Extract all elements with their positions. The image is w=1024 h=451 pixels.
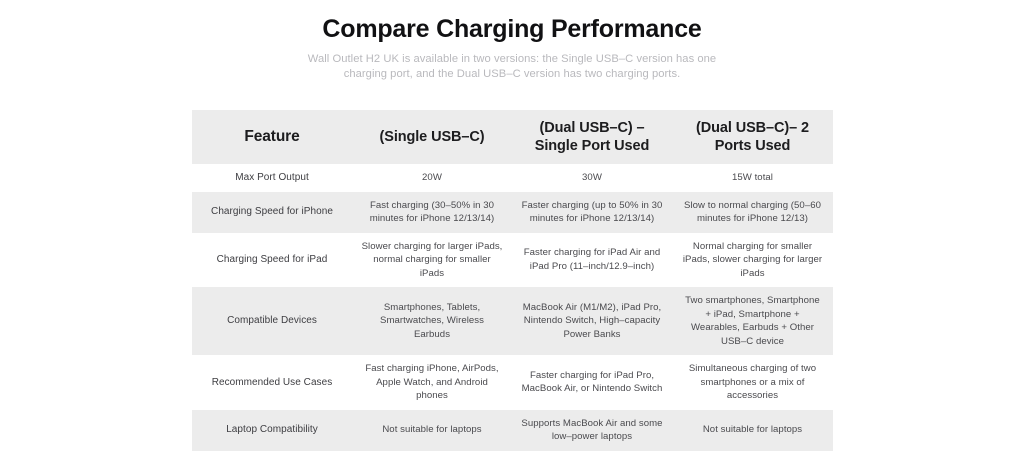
cell-single-usbc: Smartphones, Tablets, Smartwatches, Wire… bbox=[352, 287, 512, 355]
table-header: Feature (Single USB–C) (Dual USB–C) – Si… bbox=[192, 110, 833, 164]
cell-dual-two-ports: Not suitable for laptops bbox=[672, 410, 833, 451]
cell-dual-single-port: MacBook Air (M1/M2), iPad Pro, Nintendo … bbox=[512, 287, 672, 355]
page-subtitle: Wall Outlet H2 UK is available in two ve… bbox=[286, 52, 738, 82]
column-header-feature: Feature bbox=[192, 110, 352, 164]
cell-dual-single-port: 30W bbox=[512, 164, 672, 192]
table-row: Max Port Output 20W 30W 15W total bbox=[192, 164, 833, 192]
table-row: Laptop Compatibility Not suitable for la… bbox=[192, 410, 833, 451]
cell-single-usbc: Fast charging (30–50% in 30 minutes for … bbox=[352, 192, 512, 233]
column-header-dual-usbc-single-port: (Dual USB–C) – Single Port Used bbox=[512, 110, 672, 164]
column-header-dual-usbc-two-ports: (Dual USB–C)– 2 Ports Used bbox=[672, 110, 833, 164]
cell-dual-single-port: Supports MacBook Air and some low–power … bbox=[512, 410, 672, 451]
comparison-page: Compare Charging Performance Wall Outlet… bbox=[0, 0, 1024, 419]
comparison-table-wrapper: Feature (Single USB–C) (Dual USB–C) – Si… bbox=[192, 110, 833, 451]
cell-single-usbc: Fast charging iPhone, AirPods, Apple Wat… bbox=[352, 355, 512, 410]
cell-dual-two-ports: Two smartphones, Smartphone + iPad, Smar… bbox=[672, 287, 833, 355]
table-body: Max Port Output 20W 30W 15W total Chargi… bbox=[192, 164, 833, 451]
table-row: Charging Speed for iPad Slower charging … bbox=[192, 233, 833, 288]
cell-dual-single-port: Faster charging for iPad Pro, MacBook Ai… bbox=[512, 355, 672, 410]
cell-single-usbc: Not suitable for laptops bbox=[352, 410, 512, 451]
cell-single-usbc: Slower charging for larger iPads, normal… bbox=[352, 233, 512, 288]
cell-dual-two-ports: Simultaneous charging of two smartphones… bbox=[672, 355, 833, 410]
table-row: Charging Speed for iPhone Fast charging … bbox=[192, 192, 833, 233]
cell-dual-two-ports: Normal charging for smaller iPads, slowe… bbox=[672, 233, 833, 288]
cell-feature: Laptop Compatibility bbox=[192, 410, 352, 451]
table-row: Compatible Devices Smartphones, Tablets,… bbox=[192, 287, 833, 355]
page-header: Compare Charging Performance Wall Outlet… bbox=[0, 0, 1024, 82]
cell-dual-two-ports: Slow to normal charging (50–60 minutes f… bbox=[672, 192, 833, 233]
cell-feature: Charging Speed for iPad bbox=[192, 233, 352, 288]
cell-feature: Recommended Use Cases bbox=[192, 355, 352, 410]
table-row: Recommended Use Cases Fast charging iPho… bbox=[192, 355, 833, 410]
table-header-row: Feature (Single USB–C) (Dual USB–C) – Si… bbox=[192, 110, 833, 164]
cell-feature: Charging Speed for iPhone bbox=[192, 192, 352, 233]
cell-dual-single-port: Faster charging (up to 50% in 30 minutes… bbox=[512, 192, 672, 233]
cell-dual-single-port: Faster charging for iPad Air and iPad Pr… bbox=[512, 233, 672, 288]
cell-dual-two-ports: 15W total bbox=[672, 164, 833, 192]
comparison-table: Feature (Single USB–C) (Dual USB–C) – Si… bbox=[192, 110, 833, 451]
cell-single-usbc: 20W bbox=[352, 164, 512, 192]
column-header-single-usbc: (Single USB–C) bbox=[352, 110, 512, 164]
page-title: Compare Charging Performance bbox=[0, 14, 1024, 44]
cell-feature: Max Port Output bbox=[192, 164, 352, 192]
cell-feature: Compatible Devices bbox=[192, 287, 352, 355]
